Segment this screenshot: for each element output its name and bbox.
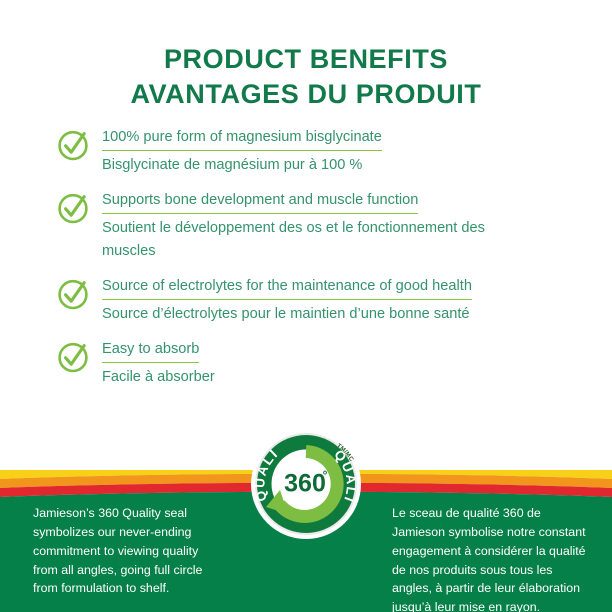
footer-text-english: Jamieson’s 360 Quality seal symbolizes o… [33,504,248,598]
benefits-list: 100% pure form of magnesium bisglycinate… [56,126,576,401]
benefit-text-french: Source d’électrolytes pour le maintien d… [102,303,522,325]
benefit-text-english: Source of electrolytes for the maintenan… [102,276,472,300]
check-circle-icon [56,126,102,162]
page-title: PRODUCT BENEFITS AVANTAGES DU PRODUIT [0,42,612,111]
footer-line: engagement à considérer la qualité [392,542,592,561]
benefit-text: Easy to absorb Facile à absorber [102,338,576,388]
benefit-text-english: Supports bone development and muscle fun… [102,190,418,214]
seal-degree-symbol: ° [323,468,328,482]
check-circle-icon [56,338,102,374]
page-title-french: AVANTAGES DU PRODUIT [0,77,612,112]
benefit-item: Easy to absorb Facile à absorber [56,338,576,388]
benefit-item: Source of electrolytes for the maintenan… [56,275,576,325]
check-circle-icon [56,189,102,225]
benefit-text: Source of electrolytes for the maintenan… [102,275,576,325]
quality-360-seal: QUALITY QUALITÉ TM/MC 360 ° [250,428,362,540]
benefit-text: 100% pure form of magnesium bisglycinate… [102,126,576,176]
footer-line: de nos produits sous tous les [392,561,592,580]
benefit-item: Supports bone development and muscle fun… [56,189,576,262]
benefit-text-english: 100% pure form of magnesium bisglycinate [102,127,382,151]
benefit-text-french: Facile à absorber [102,366,522,388]
benefit-text-french: Soutient le développement des os et le f… [102,217,522,261]
seal-center-number: 360 [284,470,326,498]
footer-line: symbolizes our never-ending [33,523,248,542]
infographic-page: PRODUCT BENEFITS AVANTAGES DU PRODUIT 10… [0,0,612,612]
benefit-text: Supports bone development and muscle fun… [102,189,576,262]
footer-line: jusqu’à leur mise en rayon. [392,598,592,612]
footer-line: from all angles, going full circle [33,561,248,580]
footer-text-french: Le sceau de qualité 360 de Jamieson symb… [392,504,592,612]
footer-line: commitment to viewing quality [33,542,248,561]
footer-line: angles, à partir de leur élaboration [392,579,592,598]
page-title-english: PRODUCT BENEFITS [0,42,612,77]
footer-line: from formulation to shelf. [33,579,248,598]
footer-line: Jamieson’s 360 Quality seal [33,504,248,523]
footer-line: Le sceau de qualité 360 de [392,504,592,523]
footer-line: Jamieson symbolise notre constant [392,523,592,542]
benefit-item: 100% pure form of magnesium bisglycinate… [56,126,576,176]
check-circle-icon [56,275,102,311]
benefit-text-english: Easy to absorb [102,339,199,363]
benefit-text-french: Bisglycinate de magnésium pur à 100 % [102,154,522,176]
